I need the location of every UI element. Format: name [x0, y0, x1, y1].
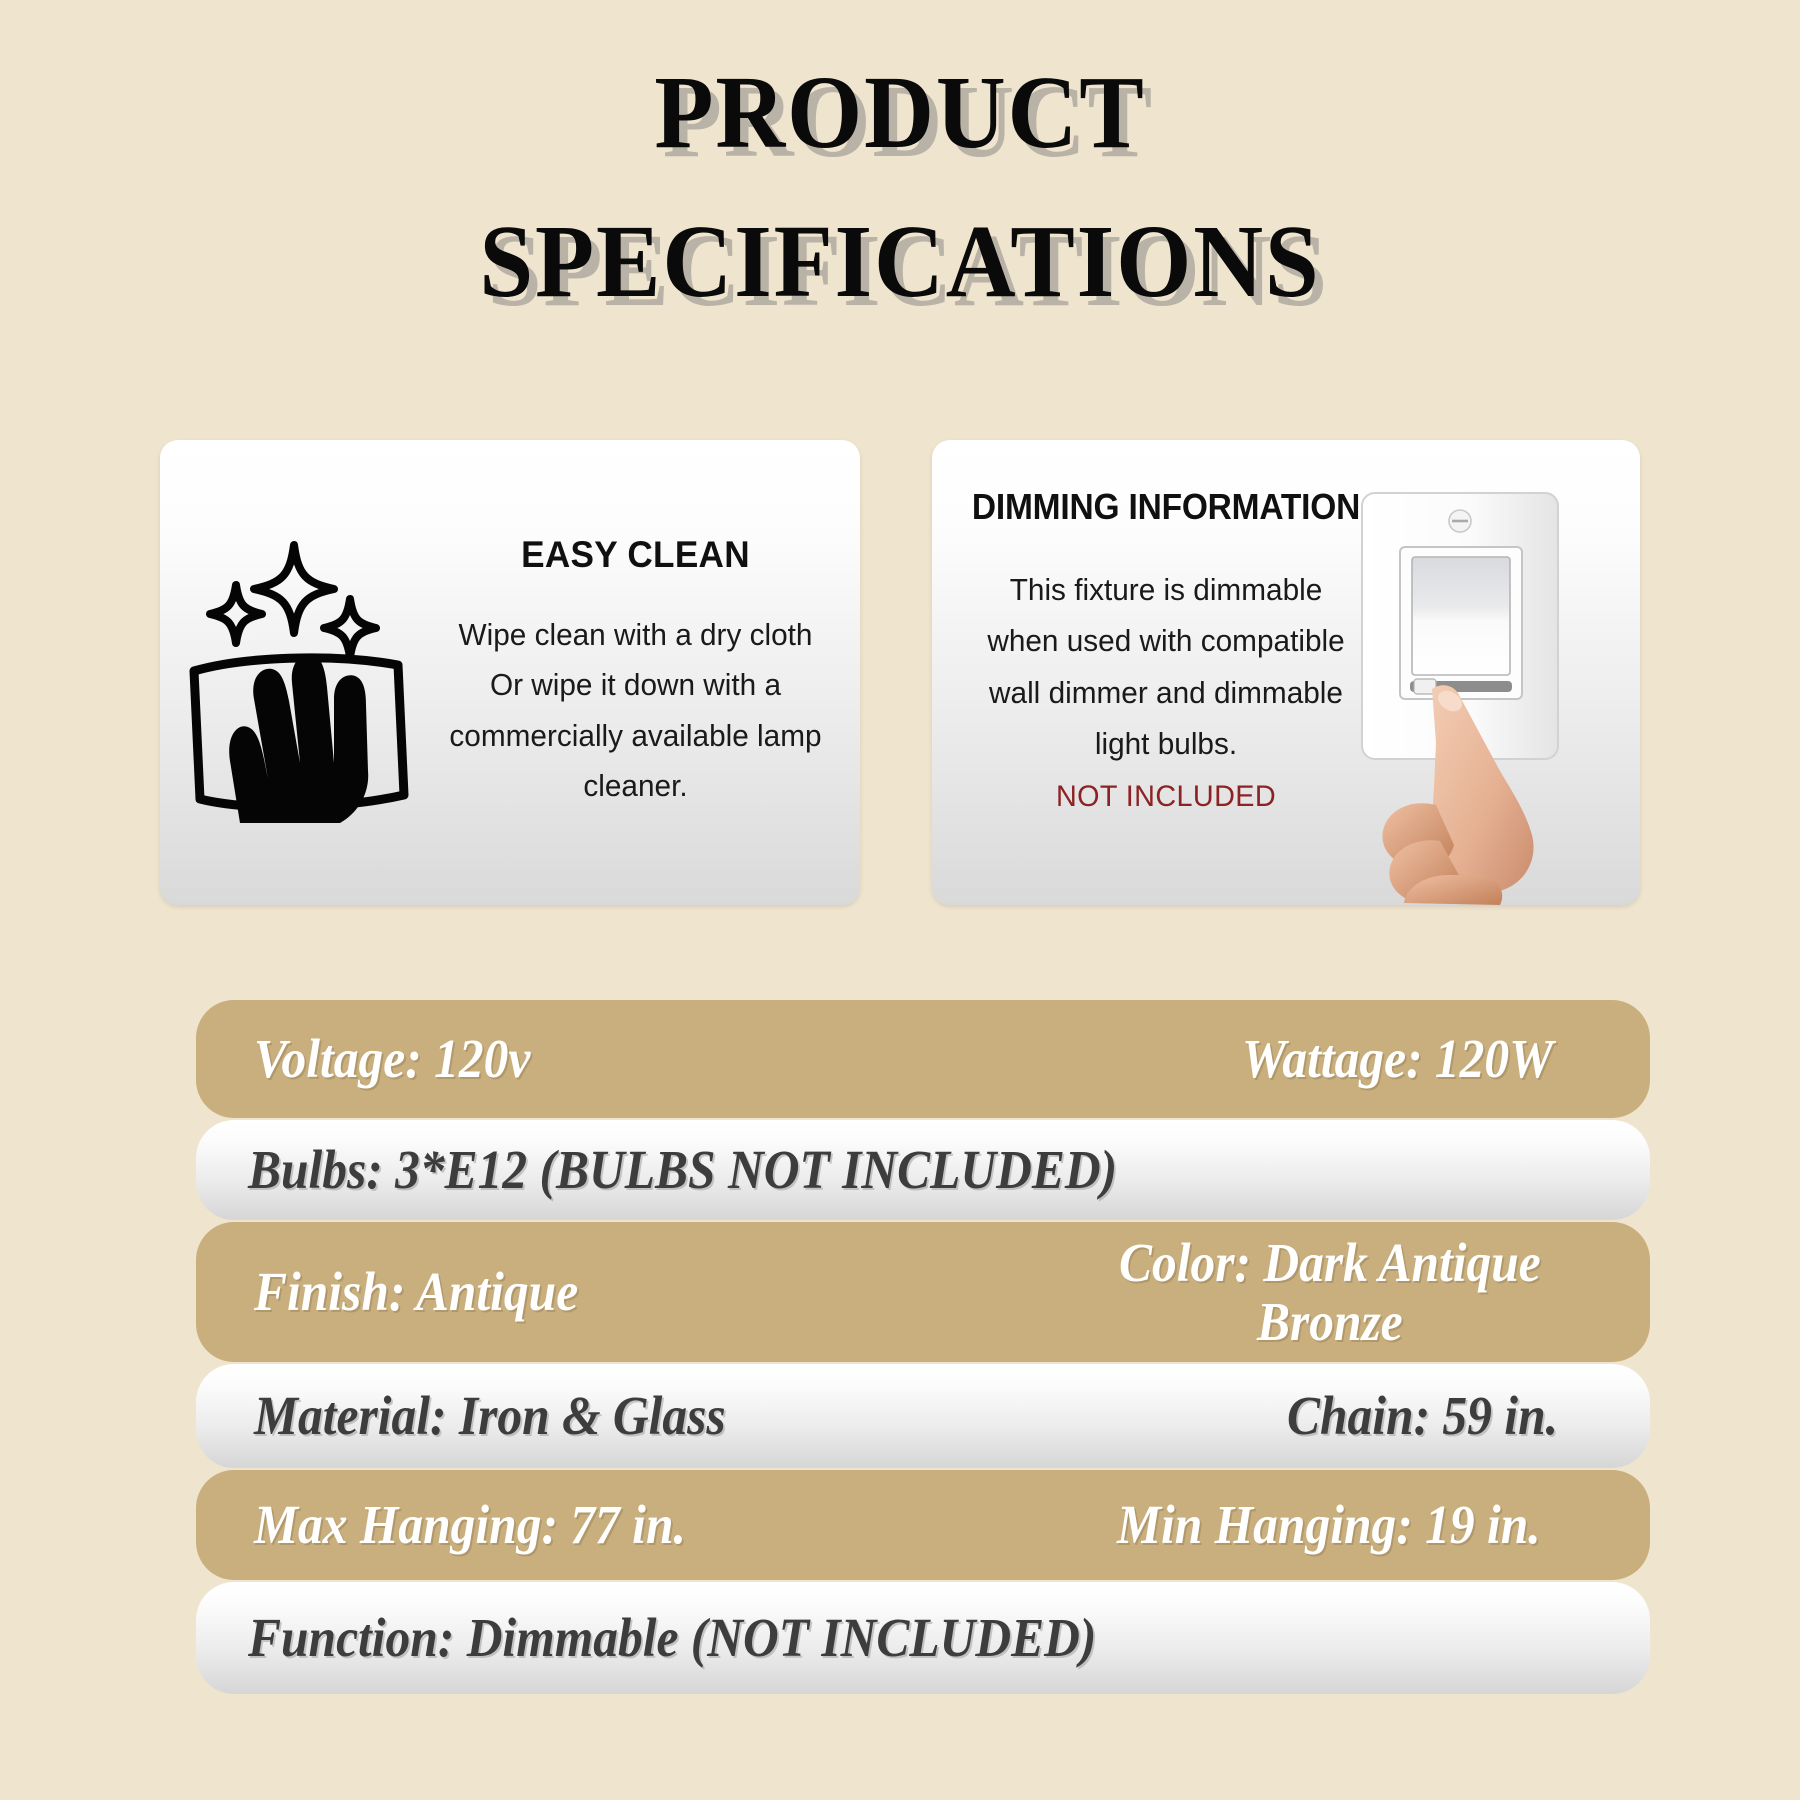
spec-bulbs: Bulbs: 3*E12 (BULBS NOT INCLUDED)	[248, 1140, 1510, 1199]
spec-max-hanging: Max Hanging: 77 in.	[254, 1495, 686, 1554]
dimming-heading: DIMMING INFORMATION	[971, 486, 1362, 528]
spec-material: Material: Iron & Glass	[254, 1386, 726, 1445]
dimming-information-card: DIMMING INFORMATION This fixture is dimm…	[932, 440, 1640, 905]
wall-dimmer-switch-with-finger-photo	[1340, 475, 1640, 905]
easy-clean-text-block: EASY CLEAN Wipe clean with a dry cloth O…	[429, 534, 860, 811]
page-title: Product Specifications	[0, 0, 1800, 317]
spec-row-hanging: Max Hanging: 77 in. Min Hanging: 19 in.	[196, 1470, 1650, 1580]
spec-chain: Chain: 59 in.	[1287, 1386, 1558, 1445]
spec-color: Color: Dark Antique Bronze	[1119, 1233, 1541, 1352]
easy-clean-body: Wipe clean with a dry cloth Or wipe it d…	[437, 610, 833, 811]
specifications-list: Voltage: 120v Wattage: 120W Bulbs: 3*E12…	[196, 1000, 1650, 1696]
page-title-line-2: Specifications	[63, 177, 1737, 318]
feature-card-row: EASY CLEAN Wipe clean with a dry cloth O…	[0, 440, 1800, 905]
spec-finish: Finish: Antique	[254, 1262, 578, 1321]
spec-row-material-chain: Material: Iron & Glass Chain: 59 in.	[196, 1364, 1650, 1468]
spec-row-voltage-wattage: Voltage: 120v Wattage: 120W	[196, 1000, 1650, 1118]
spec-row-function: Function: Dimmable (NOT INCLUDED)	[196, 1582, 1650, 1694]
easy-clean-heading: EASY CLEAN	[439, 534, 831, 576]
spec-min-hanging: Min Hanging: 19 in.	[1117, 1495, 1541, 1554]
spec-row-bulbs: Bulbs: 3*E12 (BULBS NOT INCLUDED)	[196, 1120, 1650, 1220]
dimming-text-block: DIMMING INFORMATION This fixture is dimm…	[956, 486, 1376, 814]
spec-row-finish-color: Finish: Antique Color: Dark Antique Bron…	[196, 1222, 1650, 1362]
dimming-not-included-note: NOT INCLUDED	[964, 780, 1367, 814]
spec-function: Function: Dimmable (NOT INCLUDED)	[248, 1608, 1510, 1667]
hand-wiping-cloth-sparkle-icon	[174, 523, 429, 823]
spec-voltage: Voltage: 120v	[254, 1029, 530, 1088]
spec-wattage: Wattage: 120W	[1242, 1029, 1553, 1088]
easy-clean-card: EASY CLEAN Wipe clean with a dry cloth O…	[160, 440, 860, 905]
page-title-line-1: Product	[63, 28, 1737, 169]
dimming-body: This fixture is dimmable when used with …	[964, 564, 1367, 770]
